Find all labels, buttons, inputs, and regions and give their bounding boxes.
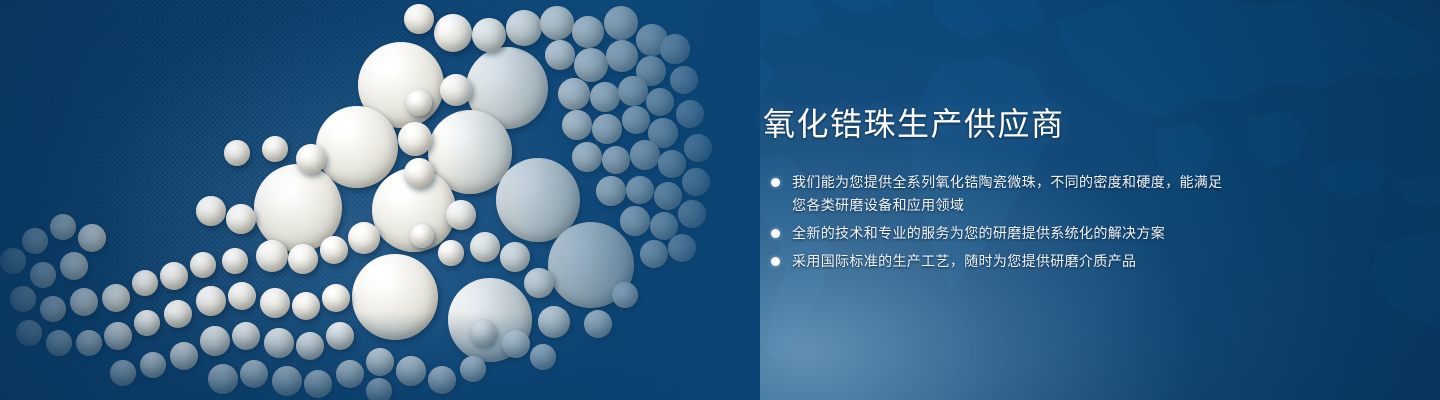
list-item: 采用国际标准的生产工艺，随时为您提供研磨介质产品 <box>763 250 1223 273</box>
bullet-dot-icon <box>771 178 780 187</box>
list-item: 全新的技术和专业的服务为您的研磨提供系统化的解决方案 <box>763 222 1223 245</box>
feature-list: 我们能为您提供全系列氧化锆陶瓷微珠，不同的密度和硬度，能满足您各类研磨设备和应用… <box>763 171 1223 273</box>
banner-copy: 氧化锆珠生产供应商 我们能为您提供全系列氧化锆陶瓷微珠，不同的密度和硬度，能满足… <box>763 104 1223 273</box>
bullet-dot-icon <box>771 229 780 238</box>
list-item: 我们能为您提供全系列氧化锆陶瓷微珠，不同的密度和硬度，能满足您各类研磨设备和应用… <box>763 171 1223 217</box>
list-item-label: 我们能为您提供全系列氧化锆陶瓷微珠，不同的密度和硬度，能满足您各类研磨设备和应用… <box>792 171 1223 217</box>
bullet-dot-icon <box>771 257 780 266</box>
list-item-label: 采用国际标准的生产工艺，随时为您提供研磨介质产品 <box>792 250 1223 273</box>
page-title: 氧化锆珠生产供应商 <box>763 104 1223 144</box>
hero-banner: 氧化锆珠生产供应商 我们能为您提供全系列氧化锆陶瓷微珠，不同的密度和硬度，能满足… <box>0 0 1440 400</box>
vignette-overlay <box>0 0 1440 400</box>
list-item-label: 全新的技术和专业的服务为您的研磨提供系统化的解决方案 <box>792 222 1223 245</box>
